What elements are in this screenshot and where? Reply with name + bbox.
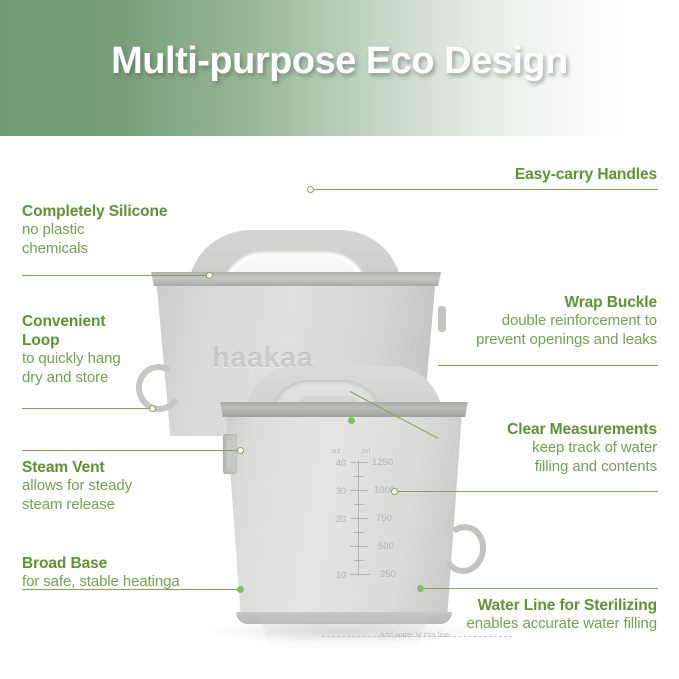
callout-body-line: double reinforcement to — [337, 312, 657, 331]
page-title: Multi-purpose Eco Design — [0, 40, 679, 83]
header-banner: Multi-purpose Eco Design — [0, 0, 679, 136]
callout-body-line: enables accurate water filling — [327, 615, 657, 634]
callout-convenient-loop: Convenient Loop to quickly hang dry and … — [22, 312, 272, 388]
leader-dot-steam-vent — [237, 447, 244, 454]
leader-dot-convenient-loop — [149, 405, 156, 412]
callout-easy-carry-handles: Easy-carry Handles — [357, 165, 657, 184]
leader-line-completely-silicone — [22, 275, 210, 276]
scale-ml-value: 250 — [380, 569, 396, 580]
leader-dot-water-line — [417, 585, 424, 592]
leader-dot-clear-measurements — [391, 488, 398, 495]
front-bag-rim — [215, 402, 473, 417]
leader-line-clear-measurements — [396, 491, 658, 492]
leader-line-convenient-loop — [22, 408, 152, 409]
scale-ml-value: 750 — [376, 513, 392, 524]
callout-body-line: prevent openings and leaks — [337, 331, 657, 350]
callout-broad-base: Broad Base for safe, stable heatinga — [22, 554, 282, 592]
scale-oz-value: 30 — [330, 486, 346, 496]
callout-body-line: no plastic — [22, 221, 282, 240]
callout-completely-silicone: Completely Silicone no plastic chemicals — [22, 202, 282, 258]
callout-body-line: filling and contents — [357, 458, 657, 477]
callout-heading: Convenient — [22, 312, 272, 331]
callout-heading: Steam Vent — [22, 458, 272, 477]
callout-body-line: for safe, stable heatinga — [22, 573, 282, 592]
leader-dot-wrap-buckle — [348, 417, 355, 424]
callout-heading: Wrap Buckle — [337, 293, 657, 312]
callout-steam-vent: Steam Vent allows for steady steam relea… — [22, 458, 272, 514]
callout-body-line: allows for steady — [22, 477, 272, 496]
leader-dot-easy-carry-handles — [307, 186, 314, 193]
callout-body-line: to quickly hang — [22, 350, 272, 369]
callout-body-line: dry and store — [22, 369, 272, 388]
scale-tick — [350, 490, 368, 491]
scale-tick — [354, 504, 364, 505]
callout-heading: Broad Base — [22, 554, 282, 573]
callout-clear-measurements: Clear Measurements keep track of water f… — [357, 420, 657, 476]
callout-water-line: Water Line for Sterilizing enables accur… — [327, 596, 657, 634]
callout-heading: Completely Silicone — [22, 202, 282, 221]
callout-heading: Clear Measurements — [357, 420, 657, 439]
callout-body-line: steam release — [22, 496, 272, 515]
scale-oz-value: 20 — [330, 514, 346, 524]
scale-unit-oz: oz — [332, 446, 341, 455]
callout-body-line: chemicals — [22, 240, 282, 259]
scale-tick — [350, 574, 370, 575]
callout-wrap-buckle: Wrap Buckle double reinforcement to prev… — [337, 293, 657, 349]
callout-heading: Easy-carry Handles — [357, 165, 657, 184]
leader-line-steam-vent — [22, 450, 240, 451]
leader-line-easy-carry-handles — [310, 189, 658, 190]
callout-body-line: keep track of water — [357, 439, 657, 458]
scale-tick — [350, 518, 368, 519]
scale-oz-value: 40 — [330, 458, 346, 468]
scale-ml-value: 500 — [378, 541, 394, 552]
infographic-canvas: Multi-purpose Eco Design haakaa — [0, 0, 679, 679]
scale-tick — [354, 560, 364, 561]
leader-dot-completely-silicone — [206, 272, 213, 279]
leader-line-wrap-buckle — [438, 365, 658, 366]
leader-line-water-line — [424, 588, 658, 589]
scale-tick — [354, 532, 364, 533]
callout-heading-line: Loop — [22, 331, 272, 350]
scale-oz-value: 10 — [330, 570, 346, 580]
scale-tick — [350, 546, 368, 547]
callout-heading: Water Line for Sterilizing — [327, 596, 657, 615]
